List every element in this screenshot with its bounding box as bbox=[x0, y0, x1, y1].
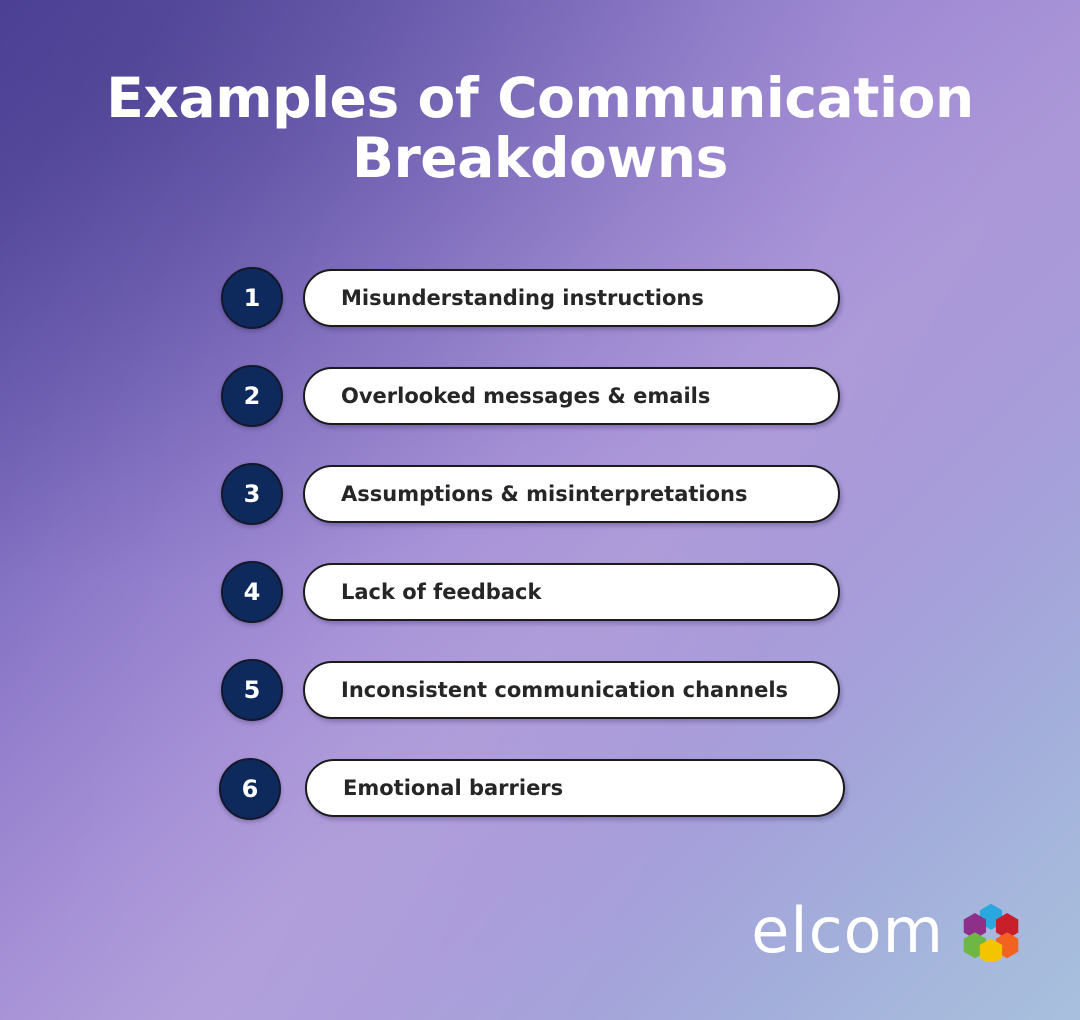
list-item-label: Emotional barriers bbox=[307, 776, 589, 800]
list-item: 1 Misunderstanding instructions bbox=[0, 267, 1080, 329]
list-item-pill: Misunderstanding instructions bbox=[303, 269, 840, 327]
page-title-line-1: Examples of Communication bbox=[0, 68, 1080, 128]
elcom-wordmark: elcom bbox=[751, 900, 944, 962]
list-item-label: Lack of feedback bbox=[305, 580, 567, 604]
infographic-poster: Examples of Communication Breakdowns 1 M… bbox=[0, 0, 1080, 1020]
list-item-pill: Emotional barriers bbox=[305, 759, 845, 817]
list-item-pill: Inconsistent communication channels bbox=[303, 661, 840, 719]
list-item: 3 Assumptions & misinterpretations bbox=[0, 463, 1080, 525]
page-title: Examples of Communication Breakdowns bbox=[0, 68, 1080, 188]
list-item-number-badge: 3 bbox=[221, 463, 283, 525]
list-item-number-badge: 1 bbox=[221, 267, 283, 329]
list-item-number-badge: 2 bbox=[221, 365, 283, 427]
list-item: 5 Inconsistent communication channels bbox=[0, 659, 1080, 721]
list-item-pill: Lack of feedback bbox=[303, 563, 840, 621]
list-item: 6 Emotional barriers bbox=[0, 757, 1080, 819]
list-item-pill: Overlooked messages & emails bbox=[303, 367, 840, 425]
list-item-label: Misunderstanding instructions bbox=[305, 286, 730, 310]
list-item-number-badge: 4 bbox=[221, 561, 283, 623]
list-item-number-badge: 6 bbox=[219, 758, 281, 820]
page-title-line-2: Breakdowns bbox=[0, 128, 1080, 188]
elcom-hexagon-flower-icon bbox=[960, 900, 1022, 962]
list-item-label: Inconsistent communication channels bbox=[305, 678, 814, 702]
list-item: 4 Lack of feedback bbox=[0, 561, 1080, 623]
elcom-logo: elcom bbox=[751, 900, 1022, 962]
list-item-label: Assumptions & misinterpretations bbox=[305, 482, 774, 506]
list-item-number-badge: 5 bbox=[221, 659, 283, 721]
list-item-label: Overlooked messages & emails bbox=[305, 384, 736, 408]
breakdown-list: 1 Misunderstanding instructions 2 Overlo… bbox=[0, 267, 1080, 819]
list-item: 2 Overlooked messages & emails bbox=[0, 365, 1080, 427]
list-item-pill: Assumptions & misinterpretations bbox=[303, 465, 840, 523]
